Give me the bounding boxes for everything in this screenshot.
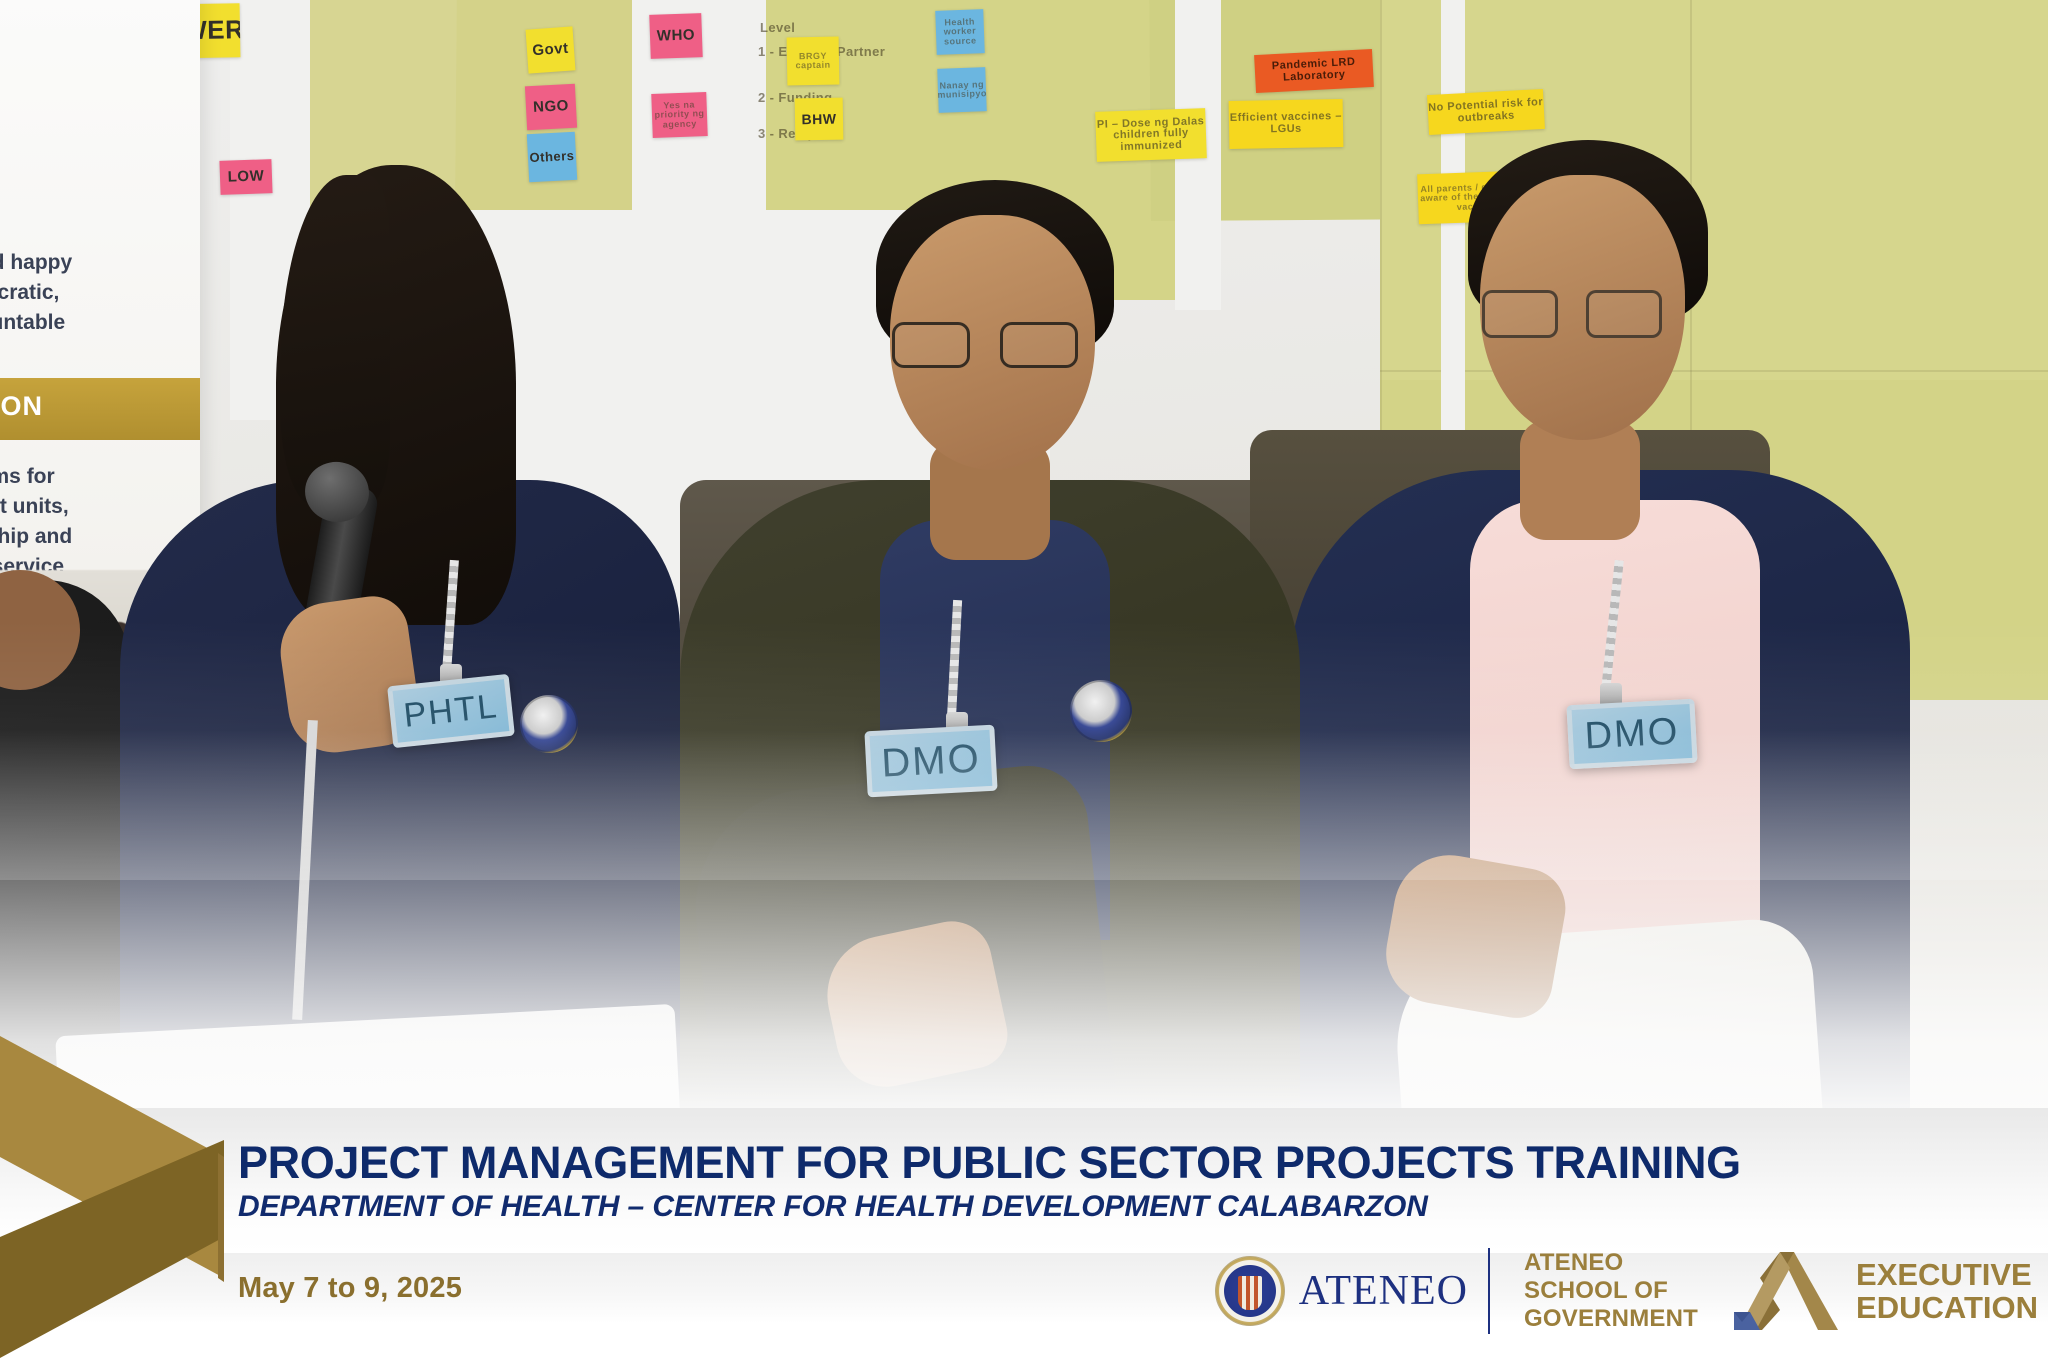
sticky-note: LOW <box>219 159 272 195</box>
executive-education-mark-icon <box>1734 1250 1838 1332</box>
sticky-note: Pandemic LRD Laboratory <box>1254 49 1374 93</box>
sticky-note: Health worker source <box>935 9 985 55</box>
rollup-heading: MISSION <box>0 391 43 422</box>
sticky-note: WHO <box>649 13 703 59</box>
rollup-line: leadership and <box>0 522 72 552</box>
paper-seam <box>1380 370 2048 372</box>
rollup-section-bar: MISSION <box>0 378 200 440</box>
sticky-note: Yes na priority ng agency <box>651 92 708 138</box>
page-subtitle: DEPARTMENT OF HEALTH – CENTER FOR HEALTH… <box>238 1192 2018 1222</box>
rollup-line: ust, and happy <box>0 248 72 278</box>
event-date: May 7 to 9, 2025 <box>238 1272 462 1305</box>
glasses-icon <box>1586 290 1662 338</box>
exec-line-1: EXECUTIVE <box>1856 1258 2038 1291</box>
sticky-note: NGO <box>525 84 577 131</box>
ateneo-seal-icon <box>1215 1256 1285 1326</box>
sticky-note: Others <box>527 132 577 182</box>
ateneo-unit-name: ATENEO SCHOOL OF GOVERNMENT <box>1524 1249 1698 1332</box>
name-badge: DMO <box>1566 699 1697 770</box>
name-badge: DMO <box>864 725 997 798</box>
glasses-icon <box>892 322 970 368</box>
rollup-line: y democratic, <box>0 278 59 308</box>
ateneo-school-of-government-logo: ATENEO ATENEO SCHOOL OF GOVERNMENT <box>1215 1248 1698 1334</box>
page-title: PROJECT MANAGEMENT FOR PUBLIC SECTOR PRO… <box>238 1140 2018 1185</box>
exec-line-2: EDUCATION <box>1856 1291 2038 1324</box>
sticky-note: BHW <box>795 98 844 141</box>
glasses-icon <box>1000 322 1078 368</box>
name-badge: PHTL <box>387 674 515 748</box>
sticky-note: Govt <box>526 26 576 73</box>
unit-line-1: ATENEO <box>1524 1249 1698 1277</box>
sticky-note: PI – Dose ng Dalas children fully immuni… <box>1095 108 1207 162</box>
unit-line-2: SCHOOL OF <box>1524 1277 1698 1305</box>
sticky-note: Efficient vaccines – LGUs <box>1229 99 1344 149</box>
rollup-line: programs for <box>0 462 55 492</box>
logo-lockups: ATENEO ATENEO SCHOOL OF GOVERNMENT <box>1215 1248 2038 1334</box>
banner-text-block: PROJECT MANAGEMENT FOR PUBLIC SECTOR PRO… <box>238 1140 2018 1222</box>
logo-divider <box>1488 1248 1490 1334</box>
chart-scribble: Level <box>760 20 795 35</box>
rollup-line: ernment units, <box>0 492 69 522</box>
jacket-emblem-icon <box>1070 680 1132 742</box>
ateneo-wordmark: ATENEO <box>1299 1270 1468 1312</box>
event-banner-image: Level 1 - External Partner 2 - Funding 3… <box>0 0 2048 1365</box>
jacket-emblem-icon <box>520 695 578 753</box>
unit-line-3: GOVERNMENT <box>1524 1305 1698 1333</box>
executive-education-logo: EXECUTIVE EDUCATION <box>1734 1250 2038 1332</box>
rollup-line: d accountable <box>0 308 65 338</box>
gold-chevron-graphic <box>0 1020 235 1365</box>
executive-education-wordmark: EXECUTIVE EDUCATION <box>1856 1258 2038 1324</box>
glasses-icon <box>1482 290 1558 338</box>
sticky-note: BRGY captain <box>787 37 840 86</box>
sticky-note: No Potential risk for outbreaks <box>1427 89 1545 135</box>
sticky-note: Nanay ng munisipyo <box>937 67 987 113</box>
